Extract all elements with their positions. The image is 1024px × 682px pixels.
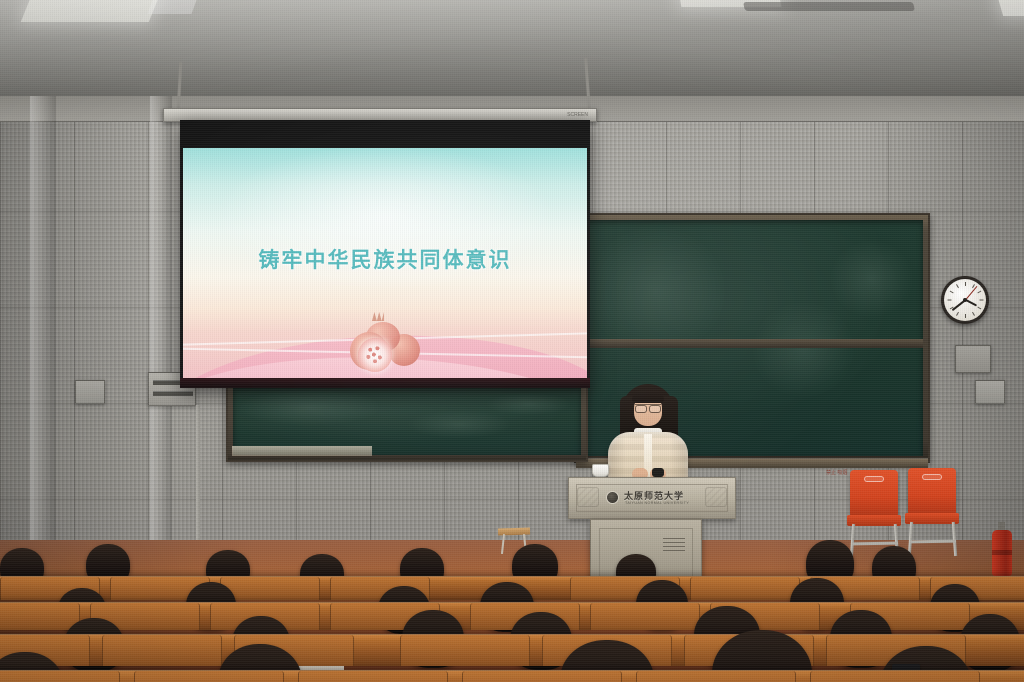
seat-back <box>590 603 700 630</box>
chalkboard-divider <box>581 339 923 348</box>
podium-institution-name-en: TAIYUAN NORMAL UNIVERSITY <box>625 501 689 505</box>
desk-row <box>0 670 1024 682</box>
seat-back <box>102 635 222 666</box>
seat-back <box>220 577 320 600</box>
seat-back <box>0 671 120 682</box>
seat-back <box>0 603 80 630</box>
seat-back <box>298 671 448 682</box>
clock-tick <box>977 307 981 310</box>
wall-pilaster <box>30 96 56 596</box>
screen-bottom-bar <box>180 378 590 388</box>
clock-hour-hand <box>966 299 978 306</box>
clock-tick <box>948 300 952 301</box>
microphone-icon[interactable] <box>652 468 664 477</box>
chalk-smudge <box>233 387 581 455</box>
clock-tick <box>950 291 954 294</box>
clock-tick <box>965 282 966 286</box>
control-panel-slot <box>153 391 193 396</box>
seat-back <box>690 577 800 600</box>
seat-back <box>400 635 530 666</box>
pomegranate-open <box>358 338 392 372</box>
lecture-hall-photo: 禁止 吸烟 <box>0 0 1024 682</box>
chair-back <box>908 468 956 514</box>
university-seal-icon <box>606 491 619 504</box>
chair-handle-icon <box>864 476 884 482</box>
speaker-person <box>606 384 690 480</box>
wall-plate <box>955 345 991 373</box>
chalkboard-surface <box>233 387 581 455</box>
chalkboard-left <box>226 380 588 462</box>
clock-tick <box>972 312 975 316</box>
clock-center-pin <box>963 298 967 302</box>
podium-top: 太原师范大学 TAIYUAN NORMAL UNIVERSITY <box>568 477 736 519</box>
clock-tick <box>977 291 981 294</box>
chair-handle-icon <box>922 474 942 480</box>
seat-back <box>462 671 622 682</box>
projection-screen: 铸牢中华民族共同体意识 <box>180 120 590 388</box>
clock-tick <box>956 284 959 288</box>
chair-back <box>850 470 898 516</box>
clock-tick <box>956 312 959 316</box>
speaker-fringe <box>632 390 664 403</box>
podium-ornament <box>705 487 727 507</box>
presentation-slide: 铸牢中华民族共同体意识 <box>183 148 587 378</box>
desk-row <box>0 634 1024 666</box>
wall-conduit <box>196 405 200 550</box>
audience-area <box>0 540 1024 682</box>
clock-second-hand <box>965 286 977 300</box>
housing-label: SCREEN <box>567 112 588 118</box>
seat-back <box>810 671 980 682</box>
wall-plate <box>75 380 105 404</box>
clock-face <box>944 279 986 321</box>
wall-plate <box>975 380 1005 404</box>
paper-cup-icon <box>592 464 609 477</box>
podium-ornament <box>577 487 599 507</box>
seat-back <box>636 671 796 682</box>
seat-back <box>134 671 284 682</box>
pomegranate-seeds <box>363 343 387 367</box>
slide-title: 铸牢中华民族共同体意识 <box>183 244 587 274</box>
pomegranate-crown <box>372 312 384 321</box>
clock-tick <box>980 300 984 301</box>
wall-pilaster <box>150 96 172 596</box>
pomegranate-icon <box>348 314 422 372</box>
clock-tick <box>965 314 966 318</box>
wall-clock <box>941 276 989 324</box>
chalk-tray <box>232 446 372 456</box>
glasses-icon <box>635 404 661 410</box>
